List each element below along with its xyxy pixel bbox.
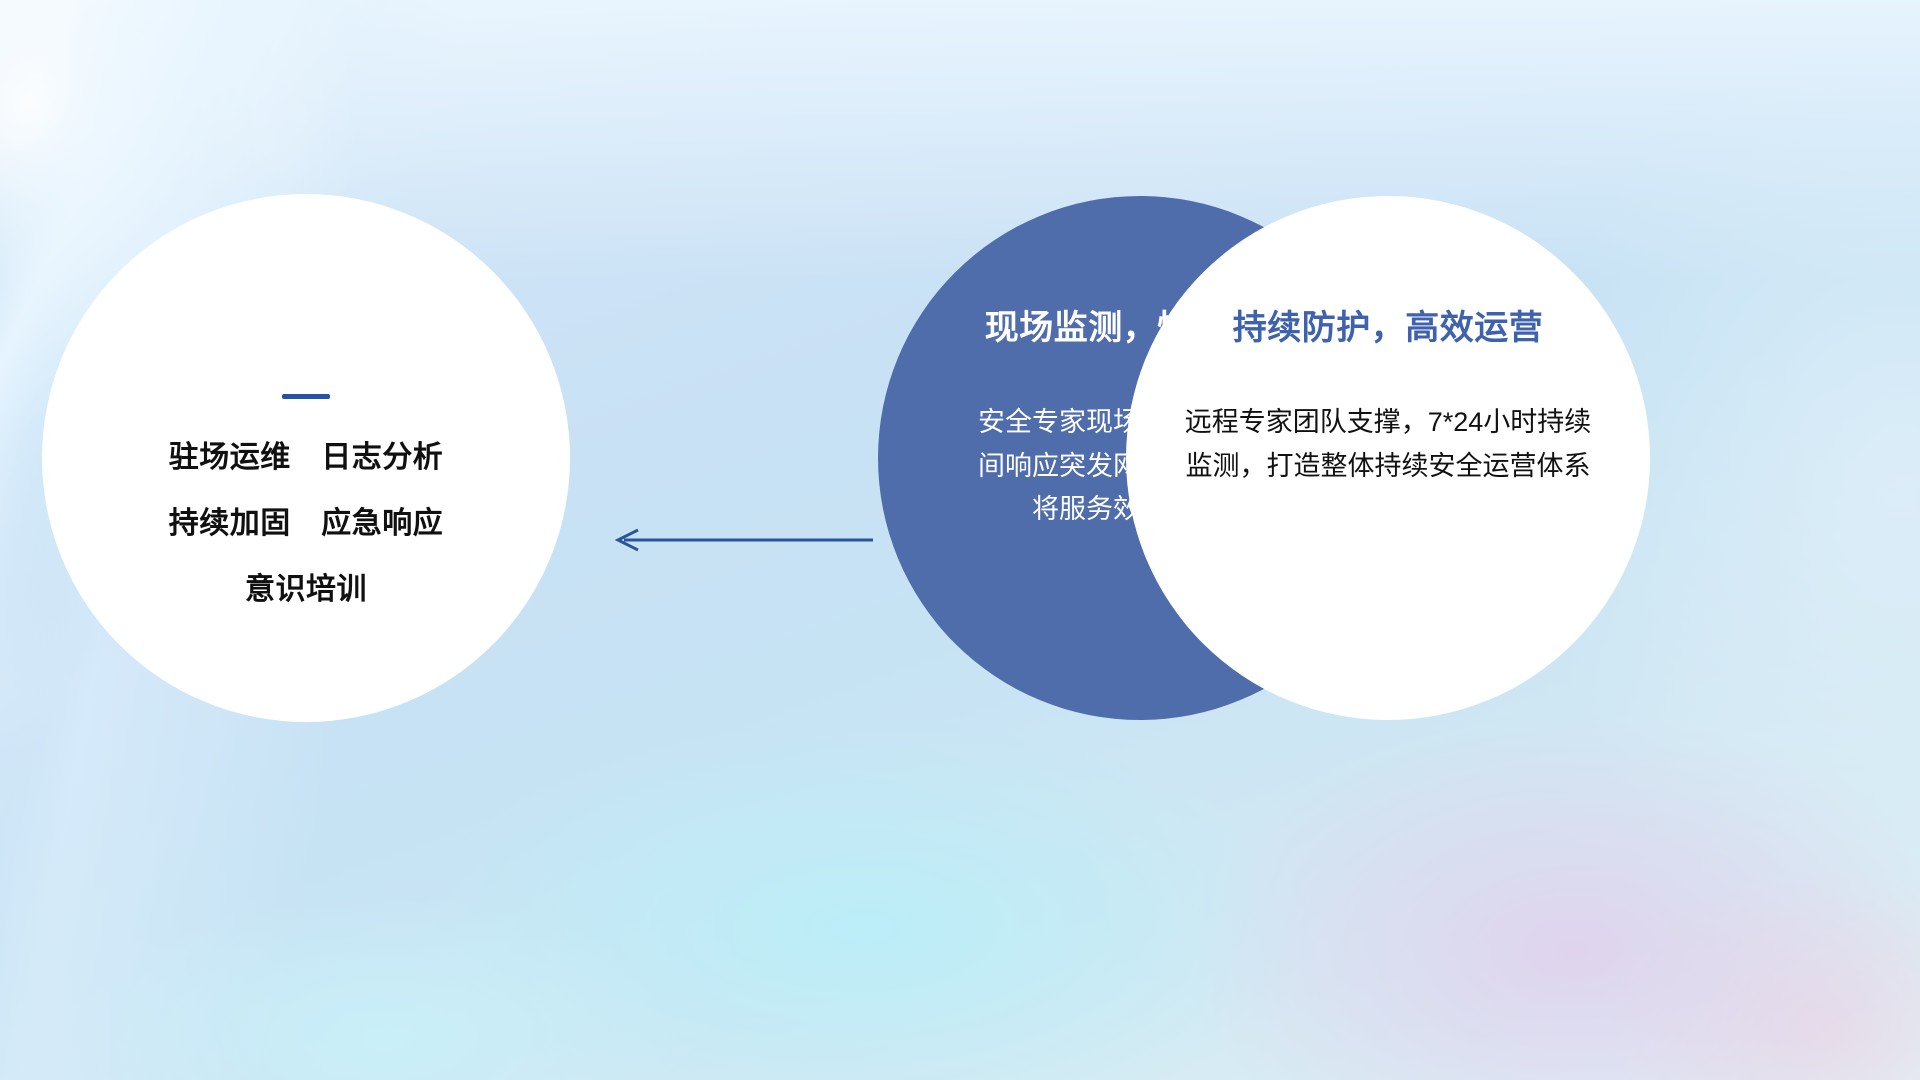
services-keyword-row: 驻场运维 日志分析: [42, 443, 570, 473]
continuous-protection-body: 远程专家团队支撑，7*24小时持续监测，打造整体持续安全运营体系: [1178, 401, 1598, 488]
divider-dash: [282, 394, 330, 399]
continuous-protection-circle: 持续防护，高效运营 远程专家团队支撑，7*24小时持续监测，打造整体持续安全运营…: [1126, 196, 1650, 720]
services-keyword-row: 持续加固 应急响应: [42, 509, 570, 539]
services-circle: 驻场运维 日志分析 持续加固 应急响应 意识培训: [42, 194, 570, 722]
presentation-slide: 驻场运维 日志分析 持续加固 应急响应 意识培训 现场监测，快速响应 安全专家现…: [0, 0, 1920, 1080]
continuous-protection-title: 持续防护，高效运营: [1233, 300, 1544, 349]
services-keyword-list: 驻场运维 日志分析 持续加固 应急响应 意识培训: [42, 443, 570, 605]
services-keyword-row: 意识培训: [42, 575, 570, 605]
arrow-left-icon: [612, 528, 874, 552]
